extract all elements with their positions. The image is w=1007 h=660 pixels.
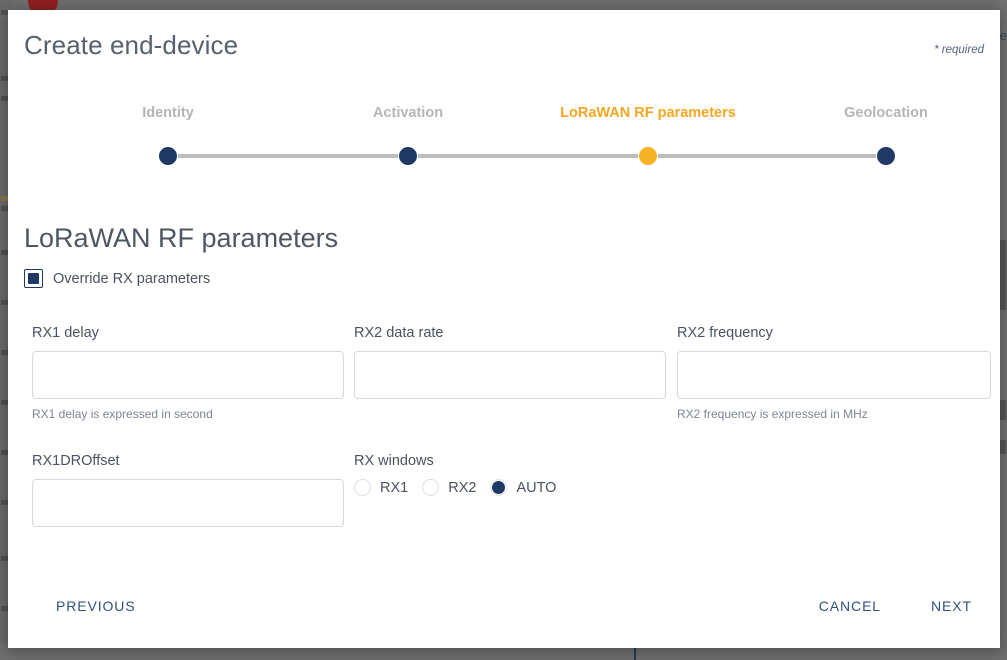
- radio-icon-rx2[interactable]: [422, 479, 439, 496]
- stepper-labels: Identity Activation LoRaWAN RF parameter…: [24, 105, 984, 127]
- override-rx-parameters-checkbox[interactable]: [24, 269, 43, 288]
- radio-icon-rx1[interactable]: [354, 479, 371, 496]
- rx-windows-option-rx2[interactable]: RX2: [422, 479, 476, 496]
- next-button[interactable]: NEXT: [925, 594, 978, 618]
- field-rx1-dr-offset: RX1DROffset: [32, 453, 344, 527]
- rx1-delay-input[interactable]: [32, 351, 344, 399]
- stepper-track: [24, 147, 984, 165]
- cancel-button[interactable]: CANCEL: [813, 594, 887, 618]
- step-dot-activation[interactable]: [399, 147, 417, 165]
- rx2-frequency-label: RX2 frequency: [677, 325, 991, 341]
- create-end-device-modal: Create end-device * required Identity Ac…: [8, 10, 1000, 648]
- radio-icon-auto[interactable]: [490, 479, 507, 496]
- rx-windows-option-auto[interactable]: AUTO: [490, 479, 556, 496]
- field-rx-windows: RX windows RX1 RX2 AUTO: [354, 453, 556, 496]
- required-note: * required: [934, 44, 984, 56]
- rx-windows-options: RX1 RX2 AUTO: [354, 479, 556, 496]
- checkbox-check-icon: [28, 273, 39, 284]
- rx-windows-option-rx1[interactable]: RX1: [354, 479, 408, 496]
- override-rx-parameters-row[interactable]: Override RX parameters: [24, 269, 210, 288]
- rx2-frequency-input[interactable]: [677, 351, 991, 399]
- rx1-delay-label: RX1 delay: [32, 325, 344, 341]
- step-label-geolocation[interactable]: Geolocation: [844, 105, 928, 121]
- step-label-activation[interactable]: Activation: [373, 105, 443, 121]
- field-rx2-frequency: RX2 frequency RX2 frequency is expressed…: [677, 325, 991, 421]
- override-rx-parameters-label: Override RX parameters: [53, 271, 210, 287]
- modal-header: Create end-device * required: [24, 30, 984, 70]
- step-label-identity[interactable]: Identity: [142, 105, 194, 121]
- section-heading: LoRaWAN RF parameters: [24, 223, 338, 254]
- rx1-dr-offset-input[interactable]: [32, 479, 344, 527]
- rx2-data-rate-input[interactable]: [354, 351, 666, 399]
- step-dot-identity[interactable]: [159, 147, 177, 165]
- background-edge-letter: e: [1000, 28, 1007, 43]
- rx2-data-rate-label: RX2 data rate: [354, 325, 666, 341]
- rx2-frequency-hint: RX2 frequency is expressed in MHz: [677, 407, 991, 421]
- stepper-connector: [178, 154, 398, 158]
- stepper-connector: [658, 154, 876, 158]
- rx1-dr-offset-label: RX1DROffset: [32, 453, 344, 469]
- radio-selected-dot-icon: [492, 481, 505, 494]
- modal-footer: PREVIOUS CANCEL NEXT: [24, 594, 984, 624]
- step-dot-geolocation[interactable]: [877, 147, 895, 165]
- step-dot-lorawan-rf-parameters[interactable]: [639, 147, 657, 165]
- previous-button[interactable]: PREVIOUS: [50, 594, 142, 618]
- rx-windows-option-rx1-label: RX1: [380, 480, 408, 496]
- stepper-connector: [418, 154, 638, 158]
- page-title: Create end-device: [24, 30, 984, 61]
- rx-windows-label: RX windows: [354, 453, 556, 469]
- rx-windows-option-auto-label: AUTO: [516, 480, 556, 496]
- rx-windows-option-rx2-label: RX2: [448, 480, 476, 496]
- field-rx2-data-rate: RX2 data rate: [354, 325, 666, 399]
- field-rx1-delay: RX1 delay RX1 delay is expressed in seco…: [32, 325, 344, 421]
- rx1-delay-hint: RX1 delay is expressed in second: [32, 407, 344, 421]
- step-label-lorawan-rf-parameters[interactable]: LoRaWAN RF parameters: [560, 105, 736, 121]
- wizard-stepper: Identity Activation LoRaWAN RF parameter…: [24, 105, 984, 175]
